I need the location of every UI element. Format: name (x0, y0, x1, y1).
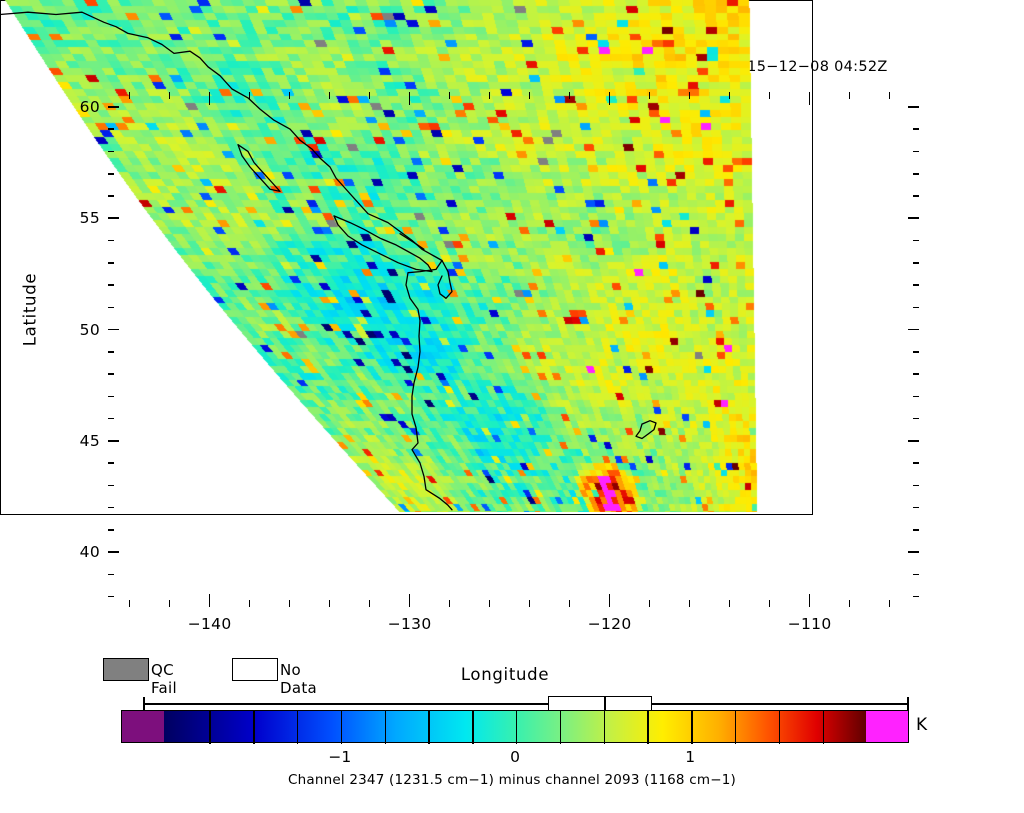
y-tick-47 (108, 396, 114, 398)
x-tick--128 (449, 600, 451, 607)
x-tick-top--130 (409, 92, 411, 105)
x-tick--116 (689, 600, 691, 607)
x-tick-top--122 (569, 92, 571, 99)
y-tick-right-52 (913, 284, 919, 286)
x-tick-top--136 (289, 92, 291, 99)
qc-fail-label: QC Fail (151, 661, 177, 697)
x-tick-top--114 (729, 92, 731, 99)
x-tick--136 (289, 600, 291, 607)
coastline-segment-2 (334, 216, 432, 272)
coastline-segment-3 (300, 140, 442, 260)
coastline-segment-1 (238, 145, 280, 192)
x-tick-top--110 (809, 92, 811, 105)
y-tick-right-53 (913, 262, 919, 264)
colorbar-under-range-block (122, 711, 164, 742)
x-tick-top--116 (689, 92, 691, 99)
y-tick-40 (108, 551, 119, 553)
coastline-segment-7 (400, 234, 424, 250)
y-tick-59 (108, 128, 114, 130)
colorbar-tick-1 (209, 711, 210, 744)
y-tick-57 (108, 173, 114, 175)
y-tick-right-58 (913, 151, 919, 153)
y-tick-41 (108, 529, 114, 531)
y-tick-55 (108, 217, 119, 219)
y-tick-right-47 (913, 396, 919, 398)
x-tick-label--120: −120 (570, 615, 650, 633)
y-tick-right-38 (913, 596, 919, 598)
y-tick-right-59 (913, 128, 919, 130)
stats-median-marker (604, 696, 606, 711)
x-tick-top--128 (449, 92, 451, 99)
y-tick-right-55 (908, 217, 919, 219)
x-tick--132 (369, 600, 371, 607)
colorbar-tick-4 (341, 711, 342, 744)
y-tick-label-45: 45 (54, 432, 100, 450)
coastline-segment-5 (438, 261, 452, 299)
colorbar-tick-10 (604, 711, 605, 744)
x-axis-title: Longitude (380, 665, 630, 684)
stats-whisker-line (143, 703, 909, 705)
x-tick--110 (809, 594, 811, 607)
y-tick-51 (108, 307, 114, 309)
colorbar-tick-12 (691, 711, 692, 744)
y-tick-44 (108, 462, 114, 464)
coastline-segment-0 (0, 12, 300, 140)
y-tick-label-60: 60 (54, 98, 100, 116)
y-tick-54 (108, 240, 114, 242)
colorbar-tick-label-2: 1 (660, 748, 720, 766)
x-tick--126 (489, 600, 491, 607)
x-tick--112 (769, 600, 771, 607)
y-tick-50 (108, 329, 119, 331)
y-tick-49 (108, 351, 114, 353)
y-tick-56 (108, 195, 114, 197)
y-tick-45 (108, 440, 119, 442)
y-tick-38 (108, 596, 114, 598)
y-axis-title: Latitude (21, 250, 40, 370)
x-tick--122 (569, 600, 571, 607)
y-tick-43 (108, 485, 114, 487)
x-tick-top--142 (169, 92, 171, 99)
colorbar-over-range-block (866, 711, 908, 742)
x-tick-top--138 (249, 92, 251, 99)
y-tick-60 (108, 106, 119, 108)
colorbar-tick-7 (472, 711, 473, 744)
x-tick-top--118 (649, 92, 651, 99)
coastline-overlay (0, 0, 810, 512)
y-tick-58 (108, 151, 114, 153)
colorbar-tick-14 (779, 711, 780, 744)
colorbar-gradient (121, 710, 909, 743)
y-tick-right-46 (913, 418, 919, 420)
y-tick-right-56 (913, 195, 919, 197)
x-tick-top--126 (489, 92, 491, 99)
qc-fail-swatch (103, 658, 149, 681)
x-tick-top--106 (889, 92, 891, 99)
x-tick-top--134 (329, 92, 331, 99)
colorbar-ramp (164, 711, 866, 742)
x-tick--142 (169, 600, 171, 607)
x-tick--144 (129, 600, 131, 607)
y-tick-label-50: 50 (54, 321, 100, 339)
colorbar[interactable] (121, 710, 909, 743)
colorbar-tick-label-0: −1 (310, 748, 370, 766)
y-tick-52 (108, 284, 114, 286)
x-tick--124 (529, 600, 531, 607)
x-tick--134 (329, 600, 331, 607)
y-tick-42 (108, 507, 114, 509)
x-tick-label--110: −110 (770, 615, 850, 633)
x-tick--118 (649, 600, 651, 607)
x-tick-top--132 (369, 92, 371, 99)
stats-whisker-max-cap (907, 697, 909, 710)
y-tick-right-44 (913, 462, 919, 464)
y-tick-right-51 (913, 307, 919, 309)
y-tick-right-45 (908, 440, 919, 442)
x-tick--120 (609, 594, 611, 607)
y-tick-right-43 (913, 485, 919, 487)
x-tick-top--120 (609, 92, 611, 105)
y-tick-label-40: 40 (54, 543, 100, 561)
colorbar-tick-6 (428, 711, 429, 744)
stats-whisker-min-cap (143, 697, 145, 710)
y-tick-right-54 (913, 240, 919, 242)
colorbar-tick-label-1: 0 (485, 748, 545, 766)
y-tick-right-60 (908, 106, 919, 108)
x-tick--138 (249, 600, 251, 607)
y-tick-right-48 (913, 373, 919, 375)
y-tick-right-49 (913, 351, 919, 353)
y-tick-right-41 (913, 529, 919, 531)
x-tick-top--124 (529, 92, 531, 99)
y-tick-right-42 (913, 507, 919, 509)
colorbar-tick-15 (823, 711, 824, 744)
stats-quartile-box (548, 696, 652, 711)
x-tick--114 (729, 600, 731, 607)
x-tick--130 (409, 594, 411, 607)
y-tick-right-40 (908, 551, 919, 553)
colorbar-tick-5 (385, 711, 386, 744)
y-tick-right-39 (913, 574, 919, 576)
x-tick--108 (849, 600, 851, 607)
y-tick-39 (108, 574, 114, 576)
no-data-label: No Data (280, 661, 317, 697)
y-tick-label-55: 55 (54, 209, 100, 227)
y-tick-right-57 (913, 173, 919, 175)
x-tick-label--130: −130 (370, 615, 450, 633)
colorbar-tick-13 (735, 711, 736, 744)
y-tick-48 (108, 373, 114, 375)
x-tick-top--144 (129, 92, 131, 99)
colorbar-tick-8 (516, 711, 517, 744)
y-tick-right-50 (908, 329, 919, 331)
x-tick--140 (209, 594, 211, 607)
colorbar-tick-11 (647, 711, 648, 744)
y-tick-46 (108, 418, 114, 420)
x-tick--106 (889, 600, 891, 607)
coastline-segment-6 (636, 421, 656, 439)
colorbar-unit-label: K (916, 715, 927, 735)
no-data-swatch (232, 658, 278, 681)
colorbar-tick-2 (253, 711, 254, 744)
map-plot-area[interactable] (0, 0, 813, 515)
colorbar-tick-3 (297, 711, 298, 744)
x-tick-top--112 (769, 92, 771, 99)
x-tick-top--108 (849, 92, 851, 99)
x-tick-label--140: −140 (170, 615, 250, 633)
y-tick-53 (108, 262, 114, 264)
x-tick-top--140 (209, 92, 211, 105)
colorbar-tick-9 (560, 711, 561, 744)
figure-caption: Channel 2347 (1231.5 cm−1) minus channel… (0, 772, 1024, 788)
